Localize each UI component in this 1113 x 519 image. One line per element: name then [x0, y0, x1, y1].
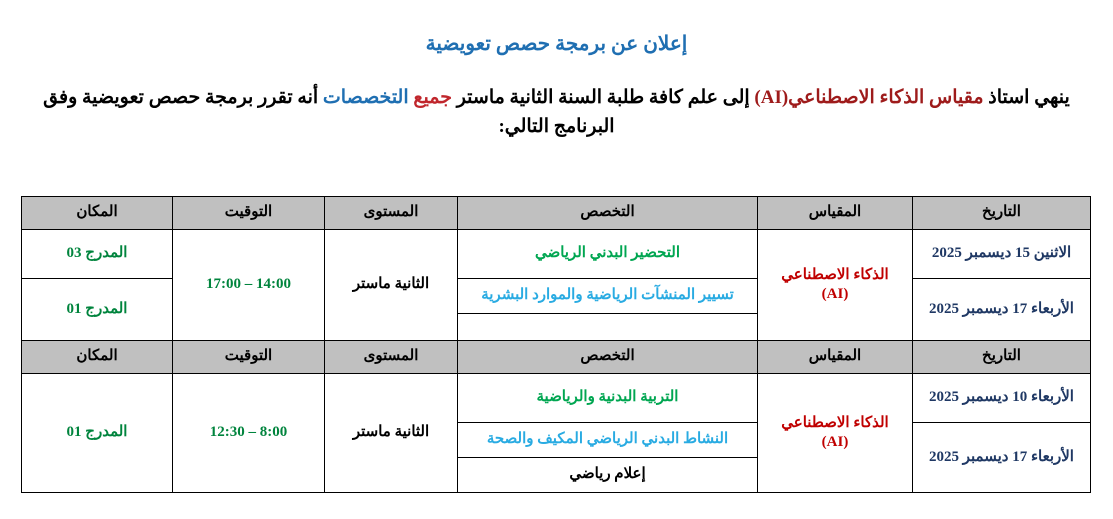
cell-date: الأربعاء 17 ديسمبر 2025 — [913, 423, 1091, 493]
cell-date: الأربعاء 17 ديسمبر 2025 — [913, 279, 1091, 341]
cell-place: المدرج 03 — [22, 230, 173, 279]
header-place-1: المكان — [22, 197, 173, 230]
cell-place: المدرج 01 — [22, 374, 173, 493]
schedule-table-container: التاريخ المقياس التخصص المستوى التوقيت ا… — [22, 196, 1091, 493]
cell-specialty: تسيير المنشآت الرياضية والموارد البشرية — [458, 279, 758, 314]
header-level-1: المستوى — [325, 197, 458, 230]
subject-code: (AI) — [762, 285, 908, 305]
intro-text-part2: إلى علم كافة طلبة السنة الثانية ماستر — [452, 87, 754, 108]
cell-subject: الذكاء الاصطناعي (AI) — [758, 230, 913, 341]
intro-specialties-highlight: التخصصات — [323, 87, 413, 108]
cell-spacer — [458, 314, 758, 341]
header-date-1: التاريخ — [913, 197, 1091, 230]
header-specialty-1: التخصص — [458, 197, 758, 230]
intro-text-part1: ينهي استاذ — [984, 87, 1070, 108]
document-page: إعلان عن برمجة حصص تعويضية ينهي استاذ مق… — [0, 0, 1113, 519]
header-time-2: التوقيت — [173, 341, 325, 374]
subject-name: الذكاء الاصطناعي — [762, 266, 908, 286]
header-date-2: التاريخ — [913, 341, 1091, 374]
cell-date: الأربعاء 10 ديسمبر 2025 — [913, 374, 1091, 423]
cell-specialty: إعلام رياضي — [458, 458, 758, 493]
cell-specialty: التحضير البدني الرياضي — [458, 230, 758, 279]
table-row: الأربعاء 10 ديسمبر 2025 الذكاء الاصطناعي… — [22, 374, 1091, 423]
intro-subject-highlight: مقياس الذكاء الاصطناعي(AI) — [754, 87, 983, 108]
header-subject-2: المقياس — [758, 341, 913, 374]
cell-level: الثانية ماستر — [325, 374, 458, 493]
cell-level: الثانية ماستر — [325, 230, 458, 341]
subject-name: الذكاء الاصطناعي — [762, 414, 908, 434]
intro-all-highlight: جميع — [413, 87, 452, 108]
table-row: الاثنين 15 ديسمبر 2025 الذكاء الاصطناعي … — [22, 230, 1091, 279]
header-specialty-2: التخصص — [458, 341, 758, 374]
cell-specialty: النشاط البدني الرياضي المكيف والصحة — [458, 423, 758, 458]
intro-paragraph: ينهي استاذ مقياس الذكاء الاصطناعي(AI) إل… — [0, 56, 1113, 142]
cell-time: 14:00 – 17:00 — [173, 230, 325, 341]
header-time-1: التوقيت — [173, 197, 325, 230]
cell-date: الاثنين 15 ديسمبر 2025 — [913, 230, 1091, 279]
cell-place: المدرج 01 — [22, 279, 173, 341]
table-header-row-2: التاريخ المقياس التخصص المستوى التوقيت ا… — [22, 341, 1091, 374]
subject-code: (AI) — [762, 433, 908, 453]
header-subject-1: المقياس — [758, 197, 913, 230]
header-place-2: المكان — [22, 341, 173, 374]
cell-subject: الذكاء الاصطناعي (AI) — [758, 374, 913, 493]
page-title: إعلان عن برمجة حصص تعويضية — [0, 0, 1113, 56]
cell-specialty: التربية البدنية والرياضية — [458, 374, 758, 423]
header-level-2: المستوى — [325, 341, 458, 374]
cell-time: 8:00 – 12:30 — [173, 374, 325, 493]
schedule-table: التاريخ المقياس التخصص المستوى التوقيت ا… — [21, 196, 1091, 493]
table-header-row-1: التاريخ المقياس التخصص المستوى التوقيت ا… — [22, 197, 1091, 230]
